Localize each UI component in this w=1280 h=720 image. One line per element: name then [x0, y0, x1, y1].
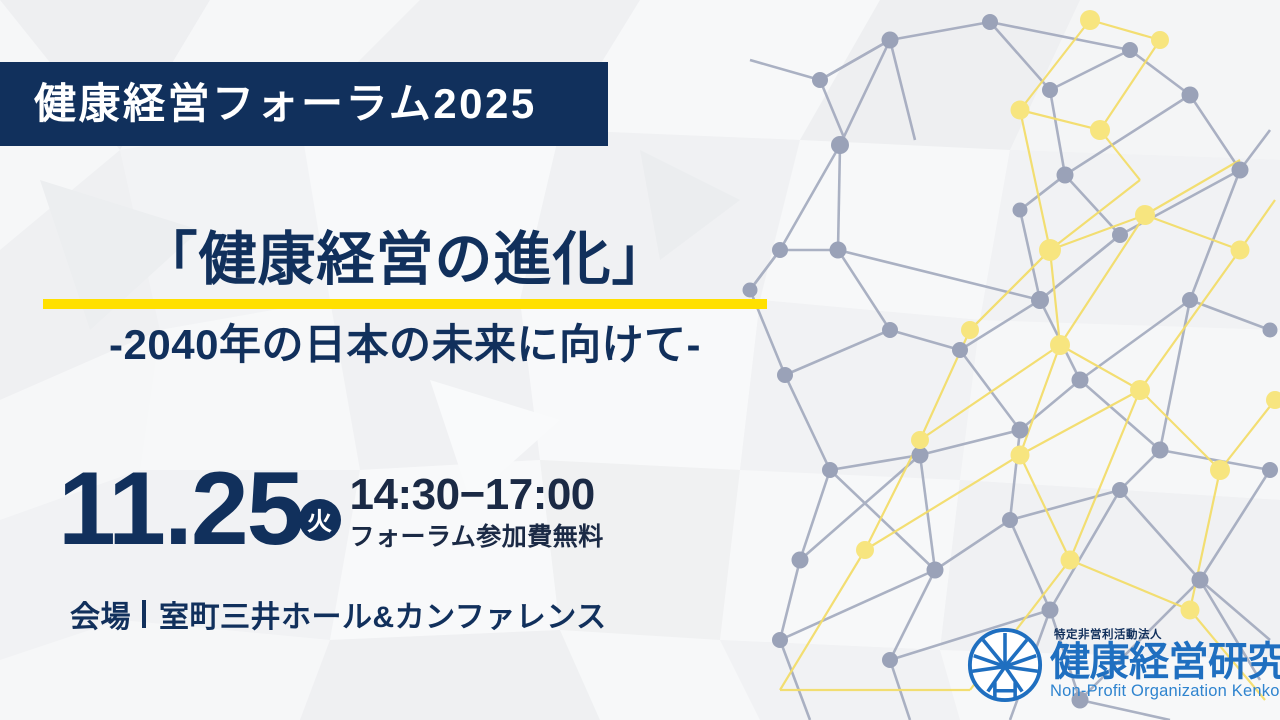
banner-title: 健康経営フォーラム2025: [34, 83, 537, 125]
event-date: 11.25: [58, 466, 303, 553]
organization-logo: 特定非営利活動法人 健康経営研究会 Non-Profit Organizatio…: [966, 626, 1280, 704]
page-title: 「健康経営の進化」: [43, 228, 767, 293]
page-subtitle: -2040年の日本の未来に向けて-: [43, 321, 767, 369]
logo-organization-name-english: Non-Profit Organization Kenkokeiei: [1050, 683, 1280, 700]
logo-organization-name: 健康経営研究会: [1050, 642, 1280, 683]
venue-separator-bar: [142, 600, 146, 628]
event-poster: 健康経営フォーラム2025 「健康経営の進化」 -2040年の日本の未来に向けて…: [0, 0, 1280, 720]
date-time-block: 11.25 火 14:30−17:00 フォーラム参加費無料: [58, 466, 604, 553]
kenkokeiei-circle-mark-icon: [966, 626, 1044, 704]
venue-name: 室町三井ホール&カンファレンス: [159, 592, 607, 636]
title-block: 「健康経営の進化」 -2040年の日本の未来に向けて-: [43, 228, 767, 369]
logo-text-group: 特定非営利活動法人 健康経営研究会 Non-Profit Organizatio…: [1050, 630, 1280, 700]
venue-row: 会場 室町三井ホール&カンファレンス: [70, 592, 607, 636]
network-graphic: [720, 0, 1280, 720]
event-time: 14:30−17:00: [350, 473, 604, 517]
venue-label: 会場: [70, 592, 131, 636]
header-banner: 健康経営フォーラム2025: [0, 62, 608, 146]
day-of-week-badge: 火: [299, 499, 341, 541]
title-underline-rule: [43, 299, 767, 309]
fee-note: フォーラム参加費無料: [350, 525, 604, 550]
time-group: 14:30−17:00 フォーラム参加費無料: [350, 473, 604, 550]
